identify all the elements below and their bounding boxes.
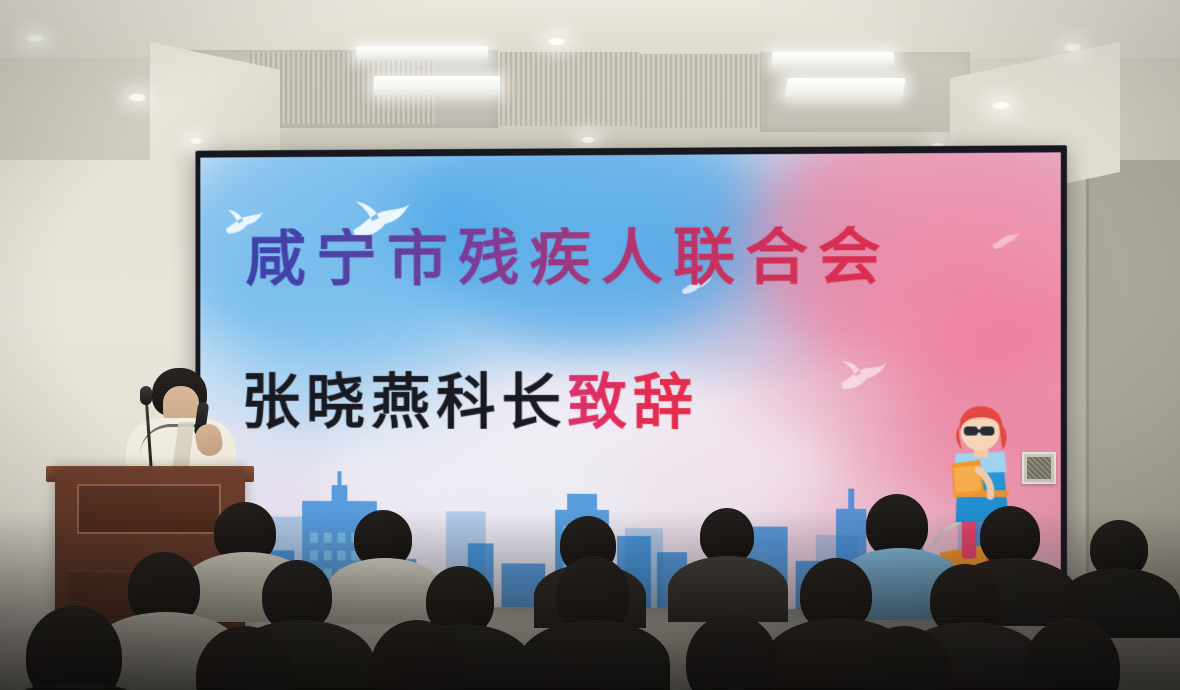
ceiling [0,0,1180,160]
led-screen-frame: 咸宁市残疾人联合会 张晓燕科长致辞 [195,145,1066,611]
ceiling-downlight-3 [546,36,568,47]
dove-icon-4 [836,360,889,394]
screen-subtitle: 张晓燕科长致辞 [241,373,699,433]
ceiling-downlight-5 [990,100,1012,111]
ceiling-downlight-6 [188,137,204,145]
right-wall-corner-edge [1086,120,1089,690]
ceiling-grille-mid [500,52,640,126]
right-wall-shadow [1086,120,1180,690]
fluorescent-panel-2 [374,76,500,95]
podium-base [69,570,229,690]
podium-front-panel [77,484,221,534]
fluorescent-panel-4 [784,78,906,98]
blind-person-illustration [923,401,1037,588]
speaker-mesh-icon [1027,457,1051,479]
gooseneck-mic-head [140,386,152,405]
conference-hall-scene: 咸宁市残疾人联合会 张晓燕科长致辞 [0,0,1180,690]
ceiling-downlight-1 [24,33,46,44]
ceiling-downlight-4 [1062,42,1084,53]
ceiling-downlight-7 [580,136,596,144]
wall-speaker-grille [1022,452,1056,484]
screen-title-main: 咸宁市残疾人联合会 [245,225,1035,290]
fluorescent-panel-1 [356,46,488,59]
podium [55,470,245,690]
ceiling-downlight-2 [126,92,148,103]
screen-subtitle-action: 致辞 [567,368,699,438]
ceiling-grille-right [640,54,770,128]
screen-subtitle-name: 张晓燕科长 [241,368,567,438]
led-screen: 咸宁市残疾人联合会 张晓燕科长致辞 [200,152,1060,610]
fluorescent-panel-3 [772,52,894,66]
